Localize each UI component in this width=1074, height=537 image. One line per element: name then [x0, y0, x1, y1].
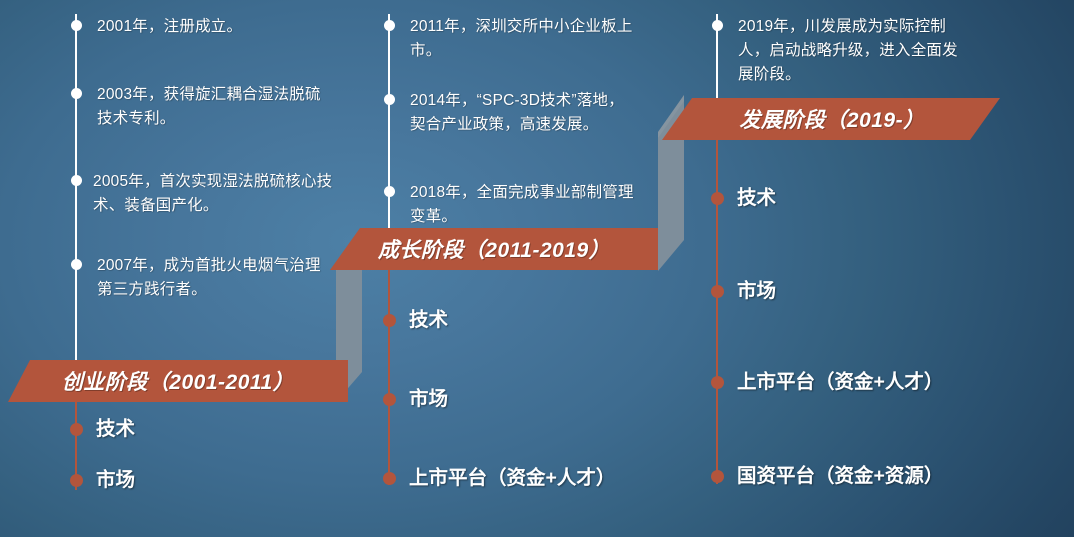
- timeline-dot-orange: [711, 192, 724, 205]
- timeline-dot-orange: [383, 393, 396, 406]
- timeline-dot-white: [384, 94, 395, 105]
- event-text: 2019年，川发展成为实际控制人，启动战略升级，进入全面发展阶段。: [738, 15, 963, 87]
- timeline-line-white-2: [388, 14, 390, 236]
- event-text: 2005年，首次实现湿法脱硫核心技术、装备国产化。: [93, 170, 336, 218]
- timeline-dot-orange: [70, 423, 83, 436]
- timeline-dot-white: [384, 20, 395, 31]
- pillar-label: 技术: [737, 187, 776, 209]
- timeline-line-orange-3: [716, 130, 718, 484]
- pillar-label: 市场: [96, 469, 135, 491]
- pillar-label: 上市平台（资金+人才）: [409, 467, 615, 489]
- event-text: 2011年，深圳交所中小企业板上市。: [410, 15, 635, 63]
- timeline-line-white-1: [75, 14, 77, 366]
- timeline-dot-white: [712, 20, 723, 31]
- stage-banner-2[interactable]: 成长阶段（2011-2019）: [330, 228, 658, 270]
- event-text: 2001年，注册成立。: [97, 15, 332, 39]
- pillar-label: 技术: [96, 418, 135, 440]
- event-text: 2014年，“SPC-3D技术”落地，契合产业政策，高速发展。: [410, 89, 632, 137]
- pillar-label: 市场: [409, 388, 448, 410]
- timeline-dot-white: [71, 259, 82, 270]
- timeline-dot-orange: [711, 285, 724, 298]
- timeline-dot-orange: [711, 470, 724, 483]
- timeline-slide: 创业阶段（2001-2011） 成长阶段（2011-2019） 发展阶段（201…: [0, 0, 1074, 537]
- event-text: 2018年，全面完成事业部制管理变革。: [410, 181, 645, 229]
- stage-banner-3[interactable]: 发展阶段（2019-）: [672, 98, 992, 140]
- timeline-dot-white: [71, 20, 82, 31]
- stage-banner-1[interactable]: 创业阶段（2001-2011）: [8, 360, 348, 402]
- event-text: 2007年，成为首批火电烟气治理第三方践行者。: [97, 254, 332, 302]
- stage-banner-label-1: 创业阶段（2001-2011）: [62, 366, 294, 396]
- pillar-label: 市场: [737, 280, 776, 302]
- timeline-dot-orange: [70, 474, 83, 487]
- timeline-dot-orange: [383, 314, 396, 327]
- timeline-dot-orange: [711, 376, 724, 389]
- timeline-dot-orange: [383, 472, 396, 485]
- timeline-dot-white: [71, 175, 82, 186]
- timeline-dot-white: [384, 186, 395, 197]
- pillar-label: 国资平台（资金+资源）: [737, 465, 943, 487]
- pillar-label: 上市平台（资金+人才）: [737, 371, 943, 393]
- pillar-label: 技术: [409, 309, 448, 331]
- stage-banner-label-3: 发展阶段（2019-）: [739, 104, 924, 134]
- event-text: 2003年，获得旋汇耦合湿法脱硫技术专利。: [97, 83, 332, 131]
- timeline-dot-white: [71, 88, 82, 99]
- timeline-line-orange-2: [388, 262, 390, 485]
- stage-banner-label-2: 成长阶段（2011-2019）: [378, 234, 610, 264]
